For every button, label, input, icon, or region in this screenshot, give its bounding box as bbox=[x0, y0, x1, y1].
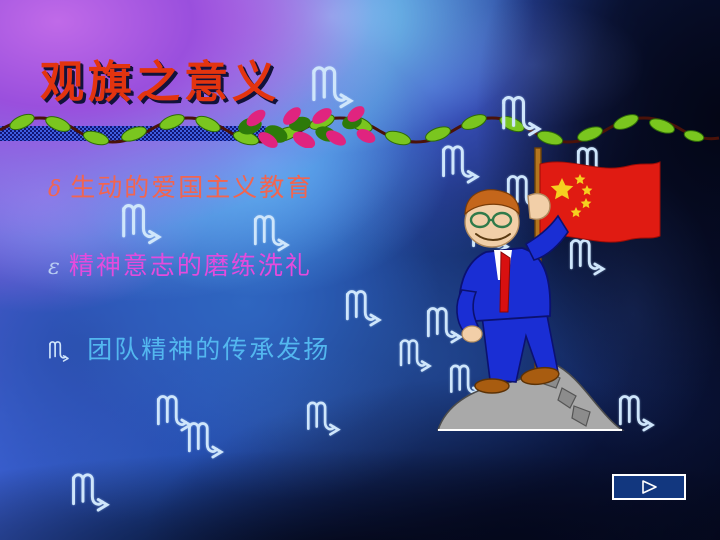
hand-left bbox=[462, 326, 482, 342]
scorpio-wingding-glyph bbox=[310, 58, 354, 110]
scorpio-glyph-icon bbox=[48, 337, 70, 363]
bullet-marker-2: ε bbox=[48, 255, 62, 280]
next-slide-button[interactable] bbox=[612, 474, 686, 500]
scorpio-wingding-glyph bbox=[186, 415, 224, 460]
clipart-man-with-flag bbox=[430, 140, 670, 450]
scorpio-wingding-glyph bbox=[305, 395, 341, 437]
scorpio-wingding-glyph bbox=[500, 88, 542, 138]
scorpio-wingding-glyph bbox=[398, 333, 432, 373]
bullet-text-1: 生动的爱国主义教育 bbox=[70, 173, 313, 202]
bullet-marker-1: δ bbox=[48, 177, 63, 202]
play-triangle-icon bbox=[639, 479, 659, 495]
scorpio-wingding-glyph bbox=[70, 466, 110, 513]
scorpio-wingding-glyph bbox=[252, 208, 290, 253]
bullet-text-2: 精神意志的磨练洗礼 bbox=[69, 251, 312, 280]
scorpio-wingding-glyph bbox=[344, 283, 382, 328]
shoe-left bbox=[475, 379, 509, 393]
bullet-text-3: 团队精神的传承发扬 bbox=[87, 335, 330, 364]
hand-right bbox=[528, 194, 550, 220]
necktie bbox=[500, 252, 510, 312]
bullet-line-1: δ生动的爱国主义教育 bbox=[48, 168, 313, 204]
scorpio-wingding-glyph bbox=[120, 196, 162, 246]
bullet-marker-3 bbox=[48, 335, 80, 365]
bullet-line-3: 团队精神的传承发扬 bbox=[48, 330, 330, 366]
presentation-slide: 观旗之意义 bbox=[0, 0, 720, 540]
